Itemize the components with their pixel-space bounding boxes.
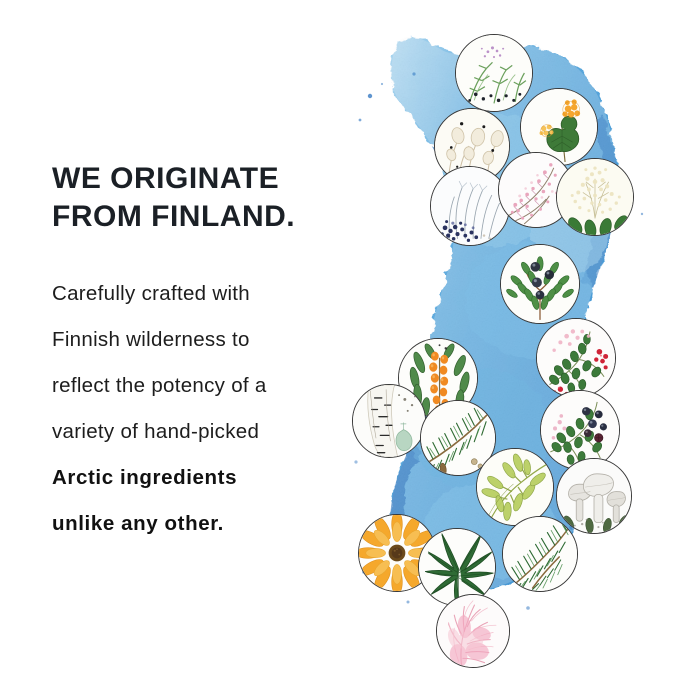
body-bold-line-2: unlike any other.	[52, 501, 362, 547]
poster-canvas: WE ORIGINATE FROM FINLAND. Carefully cra…	[0, 0, 679, 679]
birch-bark-circle	[352, 384, 426, 458]
blackcurrant-berry-circle	[540, 390, 620, 470]
body-line-2: Finnish wilderness to	[52, 317, 362, 363]
body-bold-line-1: Arctic ingredients	[52, 455, 362, 501]
body-copy: Carefully crafted with Finnish wildernes…	[52, 271, 362, 547]
body-line-4: variety of hand-picked	[52, 409, 362, 455]
pine-needle-circle	[502, 516, 578, 592]
body-line-3: reflect the potency of a	[52, 363, 362, 409]
bilberry-grass-circle	[430, 166, 510, 246]
wild-mushroom-circle	[556, 458, 632, 534]
elderflower-circle	[556, 158, 634, 236]
text-panel: WE ORIGINATE FROM FINLAND. Carefully cra…	[52, 160, 362, 547]
juniper-berry-circle	[500, 244, 580, 324]
lingonberry-circle	[536, 318, 616, 398]
pink-algae-circle	[436, 594, 510, 668]
body-line-1: Carefully crafted with	[52, 271, 362, 317]
crowberry-sprigs-circle	[455, 34, 533, 112]
page-title: WE ORIGINATE FROM FINLAND.	[52, 160, 362, 237]
willow-herb-leaf-circle	[476, 448, 554, 526]
hemp-leaf-circle	[418, 528, 496, 606]
